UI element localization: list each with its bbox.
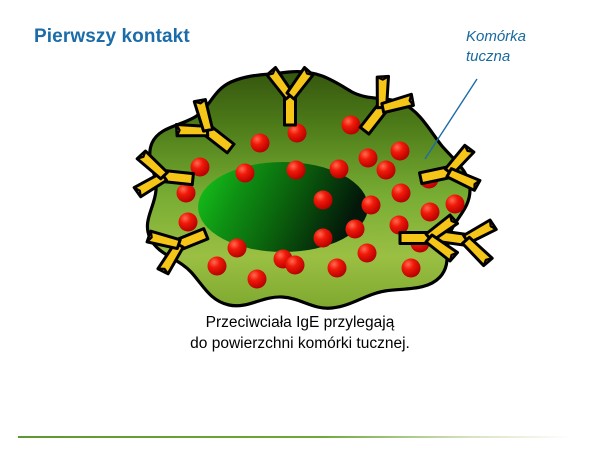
granule	[377, 161, 396, 180]
granule	[314, 191, 333, 210]
granule	[421, 203, 440, 222]
granule	[248, 270, 267, 289]
caption-line-2: do powierzchni komórki tucznej.	[0, 334, 600, 355]
mast-cell-diagram	[0, 0, 600, 450]
granule	[177, 184, 196, 203]
granule	[314, 229, 333, 248]
granule	[179, 213, 198, 232]
granule	[346, 220, 365, 239]
slide: Pierwszy kontakt Komórka tuczna	[0, 0, 600, 450]
granule	[362, 196, 381, 215]
granule	[208, 257, 227, 276]
granule	[392, 184, 411, 203]
granule	[330, 160, 349, 179]
granule	[358, 244, 377, 263]
caption-line-1: Przeciwciała IgE przylegają	[0, 313, 600, 334]
granule	[342, 116, 361, 135]
caption: Przeciwciała IgE przylegają do powierzch…	[0, 313, 600, 355]
granule	[391, 142, 410, 161]
granule	[287, 161, 306, 180]
granule	[236, 164, 255, 183]
granule	[286, 256, 305, 275]
granule	[402, 259, 421, 278]
granule	[251, 134, 270, 153]
granule	[359, 149, 378, 168]
granule	[328, 259, 347, 278]
granule	[228, 239, 247, 258]
granule	[446, 195, 465, 214]
footer-rule	[18, 436, 572, 438]
